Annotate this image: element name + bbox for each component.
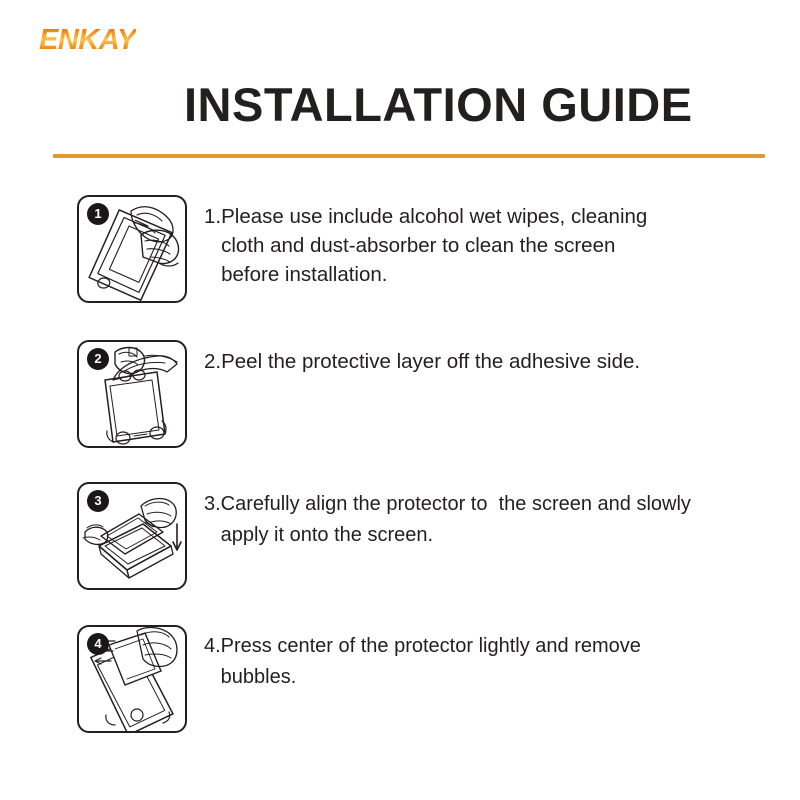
step-badge-4: 4 (87, 633, 109, 655)
step-badge-1: 1 (87, 203, 109, 225)
title-divider (53, 154, 765, 158)
step-text-2: 2.Peel the protective layer off the adhe… (204, 347, 764, 376)
step-illustration-3: 3 (77, 482, 187, 590)
installation-guide-page: ENKAY INSTALLATION GUIDE 1 (0, 0, 800, 800)
step-illustration-1: 1 (77, 195, 187, 303)
step-badge-2: 2 (87, 348, 109, 370)
step-text-4: 4.Press center of the protector lightly … (204, 631, 764, 693)
page-title: INSTALLATION GUIDE (184, 79, 693, 131)
step-text-3: 3.Carefully align the protector to the s… (204, 489, 764, 551)
enkay-logo: ENKAY (39, 26, 136, 55)
step-badge-3: 3 (87, 490, 109, 512)
step-text-1: 1.Please use include alcohol wet wipes, … (204, 202, 764, 289)
step-illustration-4: 4 (77, 625, 187, 733)
step-illustration-2: 2 (77, 340, 187, 448)
